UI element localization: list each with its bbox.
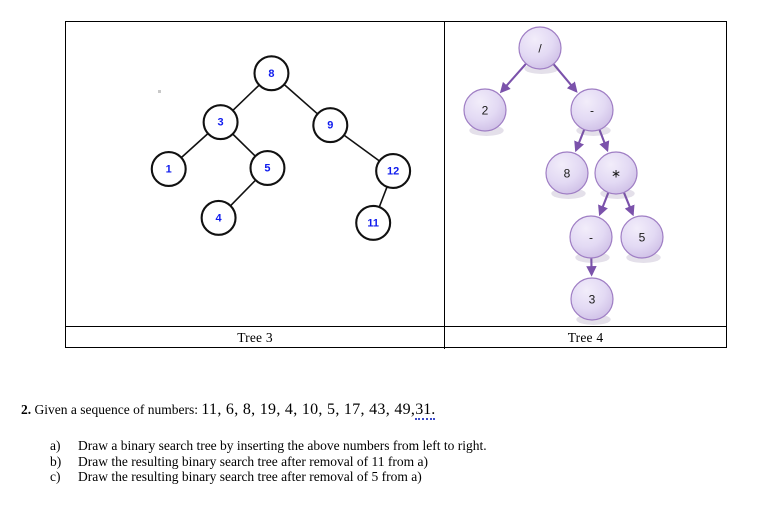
tree-node-label: 5	[639, 231, 646, 245]
tree-node-label: ∗	[611, 167, 621, 181]
tree-edge	[230, 180, 255, 206]
tree-node-label: 12	[387, 166, 399, 178]
list-item: a) Draw a binary search tree by insertin…	[50, 438, 721, 454]
tree-node: 9	[313, 108, 347, 142]
tree-node: -	[570, 216, 612, 263]
caption-tree3: Tree 3	[66, 327, 445, 349]
tree-node: 8	[546, 152, 588, 199]
question-block: 2. Given a sequence of numbers: 11, 6, 8…	[21, 401, 721, 485]
tree-node: 2	[464, 89, 506, 136]
tree-node-label: 9	[327, 120, 333, 132]
question-sequence-last: 31.	[415, 401, 435, 420]
tree-node: 5	[251, 151, 285, 185]
tree-edge	[501, 64, 526, 92]
tree-node-label: 1	[166, 164, 172, 176]
tree-edge	[233, 134, 256, 156]
tree-node-label: 11	[367, 217, 379, 229]
tree-figure-table: 8391512411 /2-8∗-53 Tree 3 Tree 4	[65, 21, 727, 348]
tree-edge	[284, 84, 317, 113]
question-subitems: a) Draw a binary search tree by insertin…	[50, 438, 721, 485]
question-number: 2.	[21, 402, 31, 417]
tree-node-label: 4	[216, 212, 223, 224]
list-item: b) Draw the resulting binary search tree…	[50, 454, 721, 470]
tree4-diagram: /2-8∗-53	[445, 22, 726, 326]
tree-node: 11	[356, 206, 390, 240]
tree-node-label: 3	[218, 117, 224, 129]
tree-node: 3	[571, 278, 613, 325]
tree-edge	[181, 134, 208, 158]
tree-node-label: -	[589, 231, 593, 245]
question-lead-line: 2. Given a sequence of numbers: 11, 6, 8…	[21, 401, 721, 418]
tree-node: 1	[152, 152, 186, 186]
tree3-cell: 8391512411	[66, 22, 445, 326]
list-item-marker: a)	[50, 438, 78, 454]
tree-node: 4	[202, 201, 236, 235]
tree-node: 3	[204, 105, 238, 139]
tree-node-label: -	[590, 104, 594, 118]
question-sequence: 11, 6, 8, 19, 4, 10, 5, 17, 43, 49,	[201, 401, 415, 418]
tree-edge	[344, 135, 379, 161]
tree-node-label: 8	[564, 167, 571, 181]
tree-edge	[233, 85, 259, 110]
list-item: c) Draw the resulting binary search tree…	[50, 469, 721, 485]
list-item-text: Draw a binary search tree by inserting t…	[78, 438, 487, 454]
tree-node: 5	[621, 216, 663, 263]
tree-edge	[379, 187, 387, 207]
tree4-cell: /2-8∗-53	[445, 22, 726, 326]
tree-node-label: 5	[264, 163, 270, 175]
list-item-marker: b)	[50, 454, 78, 470]
list-item-text: Draw the resulting binary search tree af…	[78, 454, 428, 470]
tree-node-label: 2	[482, 104, 489, 118]
figure-cells-row: 8391512411 /2-8∗-53	[66, 22, 726, 326]
list-item-text: Draw the resulting binary search tree af…	[78, 469, 422, 485]
tree-node-label: 3	[589, 293, 596, 307]
tree-node: 12	[376, 154, 410, 188]
tree3-diagram: 8391512411	[66, 22, 444, 326]
figure-caption-row: Tree 3 Tree 4	[66, 326, 726, 349]
caption-tree4: Tree 4	[445, 327, 726, 349]
question-lead-text: Given a sequence of numbers:	[35, 402, 198, 417]
list-item-marker: c)	[50, 469, 78, 485]
tree-node: 8	[255, 56, 289, 90]
tree-node: /	[519, 27, 561, 74]
tree-node-label: 8	[268, 68, 274, 80]
tree-node: ∗	[595, 152, 637, 199]
tree-node: -	[571, 89, 613, 136]
